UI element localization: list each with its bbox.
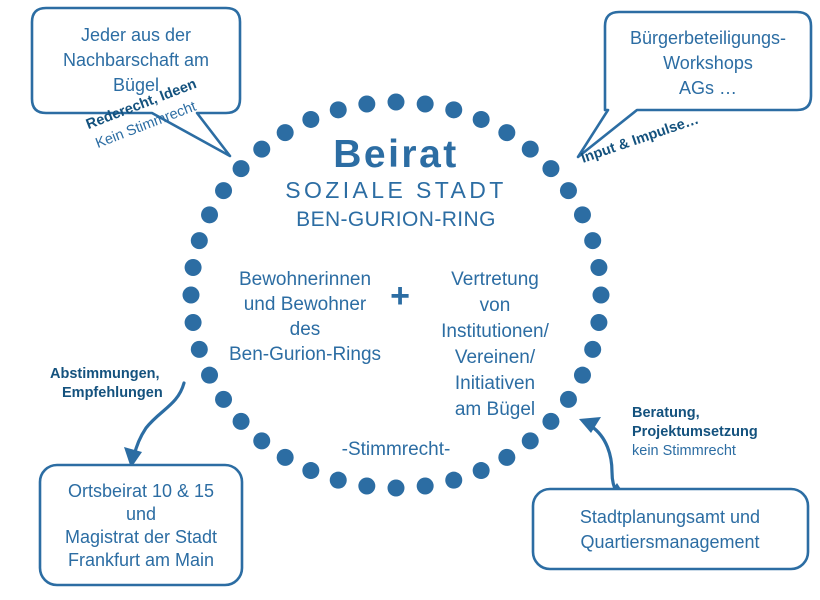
- box-stadtplanungsamt[interactable]: Stadtplanungsamt und Quartiersmanagement: [533, 489, 808, 569]
- bubble-buergerbeteiligung[interactable]: Bürgerbeteiligungs- Workshops AGs …: [578, 12, 811, 157]
- right-col-line-3: Vereinen/: [455, 347, 536, 368]
- box-ortsbeirat-line-0: Ortsbeirat 10 & 15: [68, 481, 214, 501]
- box-ortsbeirat-line-2: Magistrat der Stadt: [65, 527, 217, 547]
- arrow-beratung-double: [579, 417, 628, 500]
- right-col-line-1: von: [480, 295, 511, 316]
- ring-dot: [201, 367, 218, 384]
- center-subtitle-2: BEN-GURION-RING: [296, 208, 496, 231]
- ring-dot: [522, 141, 539, 158]
- plus-icon: +: [390, 277, 410, 315]
- center-right-column: Vertretung von Institutionen/ Vereinen/ …: [441, 269, 549, 420]
- label-beratung-line-3: kein Stimmrecht: [632, 443, 736, 459]
- beirat-organigram: Beirat SOZIALE STADT BEN-GURION-RING Bew…: [0, 0, 820, 600]
- bubble-nachbarschaft-line-1: Nachbarschaft am: [63, 50, 209, 70]
- ring-dot: [358, 478, 375, 495]
- ring-dot: [388, 94, 405, 111]
- ring-dot: [574, 206, 591, 223]
- ring-dot: [560, 182, 577, 199]
- ring-dot: [498, 124, 515, 141]
- ring-dot: [185, 314, 202, 331]
- ring-dot: [593, 287, 610, 304]
- label-abstimmungen-line-1: Abstimmungen,: [50, 366, 160, 382]
- ring-dot: [302, 462, 319, 479]
- ring-dot: [330, 101, 347, 118]
- label-abstimmungen-line-2: Empfehlungen: [62, 385, 163, 401]
- box-stadtplanungsamt-line-1: Quartiersmanagement: [580, 532, 759, 552]
- ring-dot: [201, 206, 218, 223]
- right-col-line-2: Institutionen/: [441, 321, 549, 342]
- left-col-line-0: Bewohnerinnen: [239, 269, 371, 290]
- bubble-buergerbeteiligung-line-0: Bürgerbeteiligungs-: [630, 28, 786, 48]
- ring-dot: [542, 160, 559, 177]
- ring-dot: [473, 111, 490, 128]
- arrow-beratung-line: [591, 426, 617, 493]
- left-col-line-1: und Bewohner: [244, 294, 367, 315]
- ring-dot: [560, 391, 577, 408]
- label-beratung-line-2: Projektumsetzung: [632, 424, 758, 440]
- box-stadtplanungsamt-line-0: Stadtplanungsamt und: [580, 507, 760, 527]
- bubble-nachbarschaft-line-0: Jeder aus der: [81, 25, 191, 45]
- ring-dot: [542, 413, 559, 430]
- ring-dot: [191, 232, 208, 249]
- ring-dot: [417, 478, 434, 495]
- ring-dot: [302, 111, 319, 128]
- label-abstimmungen: Abstimmungen, Empfehlungen: [50, 366, 163, 401]
- ring-dot: [330, 472, 347, 489]
- ring-dot: [445, 472, 462, 489]
- label-beratung: Beratung, Projektumsetzung kein Stimmrec…: [632, 405, 758, 459]
- ring-dot: [584, 341, 601, 358]
- diagram-canvas: Beirat SOZIALE STADT BEN-GURION-RING Bew…: [0, 0, 820, 600]
- ring-dot: [388, 480, 405, 497]
- right-col-line-5: am Bügel: [455, 399, 535, 420]
- label-beratung-line-1: Beratung,: [632, 405, 700, 421]
- ring-dot: [191, 341, 208, 358]
- ring-dot: [183, 287, 200, 304]
- right-col-line-0: Vertretung: [451, 269, 539, 290]
- center-left-column: Bewohnerinnen und Bewohner des Ben-Gurio…: [229, 269, 381, 365]
- ring-dot: [473, 462, 490, 479]
- ring-dot: [215, 391, 232, 408]
- center-subtitle-1: SOZIALE STADT: [285, 177, 506, 203]
- box-ortsbeirat-line-1: und: [126, 504, 156, 524]
- ring-dot: [445, 101, 462, 118]
- ring-dot: [358, 95, 375, 112]
- ring-dot: [185, 259, 202, 276]
- ring-dot: [277, 124, 294, 141]
- ring-dot: [590, 314, 607, 331]
- box-ortsbeirat[interactable]: Ortsbeirat 10 & 15 und Magistrat der Sta…: [40, 465, 242, 585]
- ring-dot: [522, 432, 539, 449]
- center-title: Beirat: [333, 133, 459, 176]
- ring-dot: [233, 160, 250, 177]
- right-col-line-4: Initiativen: [455, 373, 535, 394]
- left-col-line-3: Ben-Gurion-Rings: [229, 344, 381, 365]
- ring-dot: [253, 432, 270, 449]
- ring-dot: [277, 449, 294, 466]
- bubble-buergerbeteiligung-line-2: AGs …: [679, 78, 737, 98]
- ring-dot: [584, 232, 601, 249]
- ring-dot: [417, 95, 434, 112]
- ring-dot: [590, 259, 607, 276]
- ring-dot: [574, 367, 591, 384]
- ring-dot: [215, 182, 232, 199]
- ring-dot: [498, 449, 515, 466]
- stimmrecht-footer: -Stimmrecht-: [342, 439, 451, 460]
- left-col-line-2: des: [290, 319, 321, 340]
- ring-dot: [253, 141, 270, 158]
- ring-dot: [233, 413, 250, 430]
- bubble-buergerbeteiligung-line-1: Workshops: [663, 53, 753, 73]
- box-stadtplanungsamt-shape: [533, 489, 808, 569]
- box-ortsbeirat-line-3: Frankfurt am Main: [68, 550, 214, 570]
